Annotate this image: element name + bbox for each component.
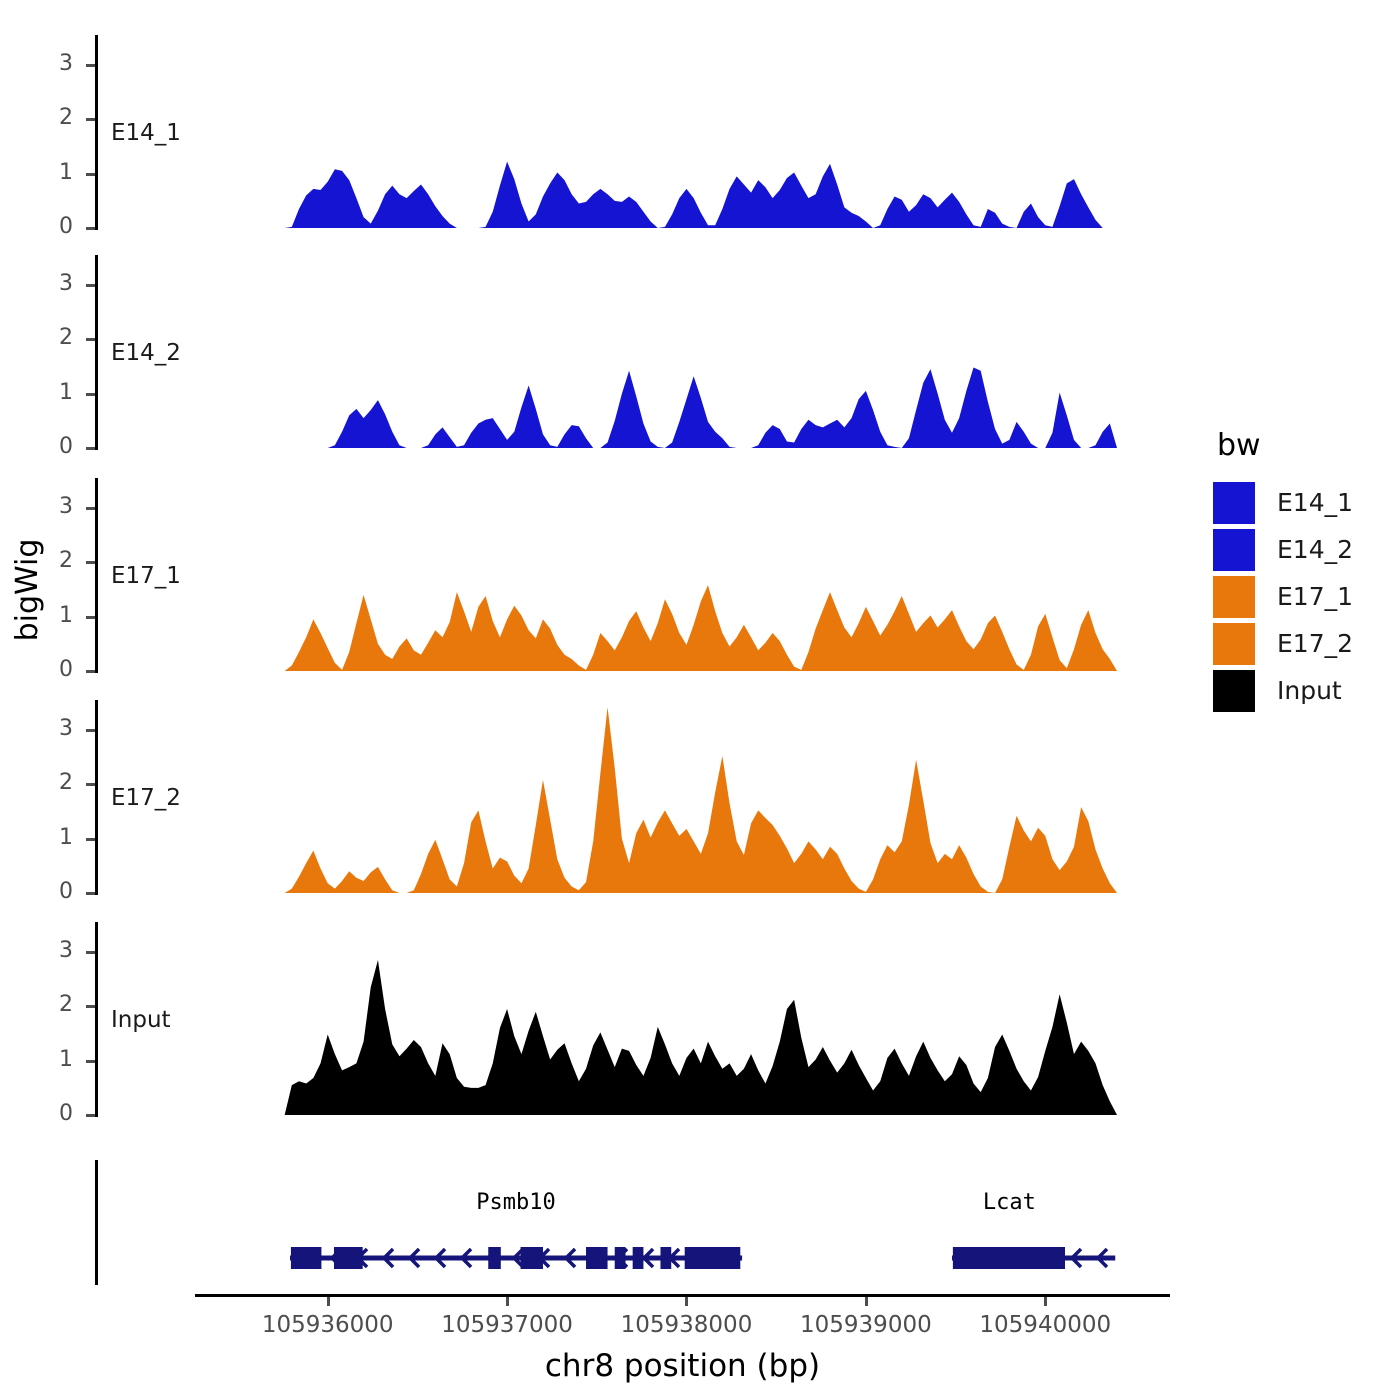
legend-key-swatch bbox=[1213, 482, 1255, 524]
y-tick-mark bbox=[86, 227, 95, 230]
legend-item-input[interactable]: Input bbox=[1213, 667, 1353, 714]
y-tick-label: 2 bbox=[33, 327, 73, 349]
track-area-e14_1 bbox=[238, 35, 1140, 232]
y-axis-line-e17_1 bbox=[95, 478, 98, 673]
y-tick-mark bbox=[86, 447, 95, 450]
legend-key-swatch bbox=[1213, 529, 1255, 571]
y-axis-line-e17_2 bbox=[95, 700, 98, 895]
y-tick-mark bbox=[86, 173, 95, 176]
gene-label-lcat: Lcat bbox=[919, 1190, 1099, 1215]
y-tick-label: 0 bbox=[33, 436, 73, 458]
y-tick-label: 3 bbox=[33, 940, 73, 962]
x-tick-label: 105940000 bbox=[955, 1312, 1135, 1338]
x-axis-line bbox=[195, 1294, 1170, 1297]
y-tick-mark bbox=[86, 838, 95, 841]
legend-item-e17_2[interactable]: E17_2 bbox=[1213, 620, 1353, 667]
x-tick-label: 105936000 bbox=[238, 1312, 418, 1338]
legend-item-label: E17_2 bbox=[1277, 629, 1353, 658]
x-tick-mark bbox=[506, 1297, 509, 1306]
y-tick-label: 0 bbox=[33, 216, 73, 238]
x-tick-mark bbox=[327, 1297, 330, 1306]
legend-item-e17_1[interactable]: E17_1 bbox=[1213, 573, 1353, 620]
y-tick-label: 1 bbox=[33, 605, 73, 627]
x-tick-mark bbox=[1044, 1297, 1047, 1306]
y-tick-mark bbox=[86, 1005, 95, 1008]
y-tick-label: 3 bbox=[33, 53, 73, 75]
y-tick-label: 3 bbox=[33, 718, 73, 740]
track-area-e17_1 bbox=[238, 478, 1140, 675]
y-tick-label: 2 bbox=[33, 550, 73, 572]
x-axis-title: chr8 position (bp) bbox=[383, 1348, 983, 1384]
y-tick-label: 0 bbox=[33, 659, 73, 681]
legend-item-e14_1[interactable]: E14_1 bbox=[1213, 479, 1353, 526]
legend-title: bw bbox=[1217, 428, 1353, 463]
track-area-e17_2 bbox=[238, 700, 1140, 897]
y-tick-mark bbox=[86, 338, 95, 341]
y-tick-label: 1 bbox=[33, 827, 73, 849]
track-area-e14_2 bbox=[238, 255, 1140, 452]
y-axis-line-e14_1 bbox=[95, 35, 98, 230]
y-tick-label: 2 bbox=[33, 994, 73, 1016]
genome-browser-figure: bigWig Genes 0123E14_10123E14_20123E17_1… bbox=[0, 0, 1400, 1400]
panel-label-e17_1: E17_1 bbox=[111, 563, 181, 589]
legend-item-e14_2[interactable]: E14_2 bbox=[1213, 526, 1353, 573]
y-tick-mark bbox=[86, 729, 95, 732]
legend-key-swatch bbox=[1213, 670, 1255, 712]
y-axis-line-input bbox=[95, 922, 98, 1117]
y-tick-mark bbox=[86, 118, 95, 121]
legend-item-label: E14_1 bbox=[1277, 488, 1353, 517]
y-tick-label: 3 bbox=[33, 273, 73, 295]
y-tick-label: 0 bbox=[33, 1103, 73, 1125]
panel-label-e17_2: E17_2 bbox=[111, 785, 181, 811]
legend: bw E14_1E14_2E17_1E17_2Input bbox=[1213, 428, 1353, 714]
y-tick-label: 1 bbox=[33, 382, 73, 404]
y-tick-mark bbox=[86, 951, 95, 954]
legend-item-label: Input bbox=[1277, 676, 1342, 705]
legend-key-swatch bbox=[1213, 576, 1255, 618]
legend-key-swatch bbox=[1213, 623, 1255, 665]
legend-item-label: E14_2 bbox=[1277, 535, 1353, 564]
gene-models bbox=[238, 1230, 1166, 1300]
x-tick-mark bbox=[685, 1297, 688, 1306]
y-tick-mark bbox=[86, 892, 95, 895]
legend-items: E14_1E14_2E17_1E17_2Input bbox=[1213, 479, 1353, 714]
genes-axis-line bbox=[95, 1160, 98, 1285]
panel-label-input: Input bbox=[111, 1007, 171, 1033]
panel-label-e14_1: E14_1 bbox=[111, 120, 181, 146]
x-tick-label: 105939000 bbox=[776, 1312, 956, 1338]
y-tick-label: 3 bbox=[33, 496, 73, 518]
gene-label-psmb10: Psmb10 bbox=[426, 1190, 606, 1215]
y-tick-mark bbox=[86, 284, 95, 287]
y-tick-mark bbox=[86, 616, 95, 619]
y-tick-mark bbox=[86, 1060, 95, 1063]
y-tick-mark bbox=[86, 64, 95, 67]
legend-item-label: E17_1 bbox=[1277, 582, 1353, 611]
y-tick-mark bbox=[86, 507, 95, 510]
y-tick-label: 2 bbox=[33, 107, 73, 129]
y-tick-label: 1 bbox=[33, 1049, 73, 1071]
y-tick-label: 2 bbox=[33, 772, 73, 794]
y-tick-mark bbox=[86, 393, 95, 396]
y-tick-mark bbox=[86, 561, 95, 564]
y-tick-label: 1 bbox=[33, 162, 73, 184]
y-tick-label: 0 bbox=[33, 881, 73, 903]
x-tick-mark bbox=[865, 1297, 868, 1306]
x-tick-label: 105937000 bbox=[417, 1312, 597, 1338]
y-tick-mark bbox=[86, 783, 95, 786]
panel-label-e14_2: E14_2 bbox=[111, 340, 181, 366]
y-tick-mark bbox=[86, 670, 95, 673]
track-area-input bbox=[238, 922, 1140, 1119]
x-tick-label: 105938000 bbox=[596, 1312, 776, 1338]
y-tick-mark bbox=[86, 1114, 95, 1117]
y-axis-line-e14_2 bbox=[95, 255, 98, 450]
